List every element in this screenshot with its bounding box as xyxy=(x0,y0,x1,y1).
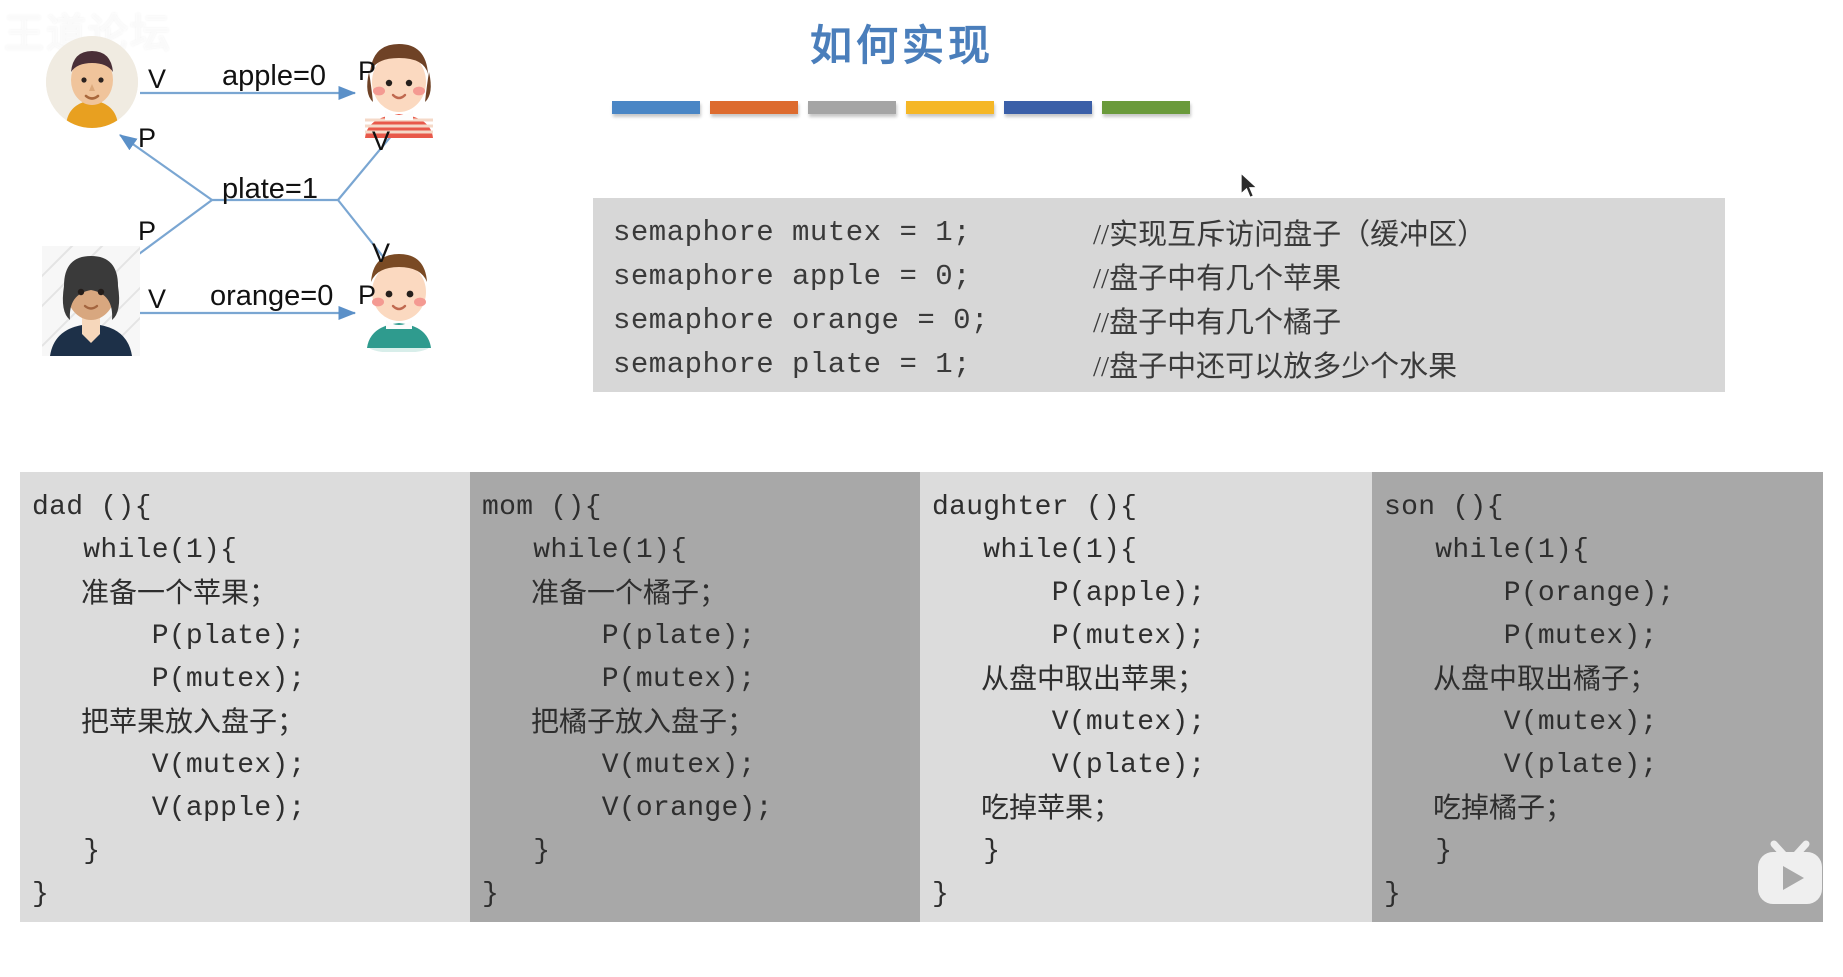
color-bar-3 xyxy=(808,101,896,114)
code-line: while(1){ xyxy=(32,529,470,572)
semaphore-code: semaphore mutex = 1; xyxy=(613,216,1093,249)
code-line: while(1){ xyxy=(482,529,920,572)
semaphore-code: semaphore apple = 0; xyxy=(613,260,1093,293)
code-line: P(plate); xyxy=(32,615,470,658)
semaphore-row: semaphore apple = 0;//盘子中有几个苹果 xyxy=(613,254,1713,298)
code-line: 从盘中取出苹果； xyxy=(932,658,1372,701)
code-line: P(orange); xyxy=(1384,572,1823,615)
semaphore-code: semaphore orange = 0; xyxy=(613,304,1093,337)
code-line: P(mutex); xyxy=(1384,615,1823,658)
semaphore-declaration-block: semaphore mutex = 1;//实现互斥访问盘子（缓冲区）semap… xyxy=(593,198,1725,392)
semaphore-comment: //实现互斥访问盘子（缓冲区） xyxy=(1093,211,1486,253)
color-bar-2 xyxy=(710,101,798,114)
code-line: V(plate); xyxy=(1384,744,1823,787)
code-column-mom: mom (){ while(1){ 准备一个橘子； P(plate); P(mu… xyxy=(470,472,920,922)
code-line: P(apple); xyxy=(932,572,1372,615)
code-line: 准备一个橘子； xyxy=(482,572,920,615)
code-line: 从盘中取出橘子； xyxy=(1384,658,1823,701)
color-bar-6 xyxy=(1102,101,1190,114)
color-bar-4 xyxy=(906,101,994,114)
daughter-p-label: P xyxy=(358,58,376,85)
code-line: V(plate); xyxy=(932,744,1372,787)
code-line: dad (){ xyxy=(32,486,470,529)
son-p-label: P xyxy=(358,282,376,309)
semaphore-comment: //盘子中还可以放多少个水果 xyxy=(1093,343,1457,385)
code-line: V(apple); xyxy=(32,787,470,830)
code-column-dad: dad (){ while(1){ 准备一个苹果； P(plate); P(mu… xyxy=(20,472,470,922)
code-line: V(mutex); xyxy=(1384,701,1823,744)
mouse-cursor xyxy=(1240,172,1260,202)
code-line: } xyxy=(482,830,920,873)
code-line: P(mutex); xyxy=(932,615,1372,658)
color-bar-5 xyxy=(1004,101,1092,114)
code-column-daughter: daughter (){ while(1){ P(apple); P(mutex… xyxy=(920,472,1372,922)
daughter-v-label: V xyxy=(372,128,390,155)
code-line: } xyxy=(482,873,920,916)
apple-edge-label: apple=0 xyxy=(222,62,326,91)
plate-edge-label: plate=1 xyxy=(222,175,318,204)
code-line: V(mutex); xyxy=(932,701,1372,744)
process-code-columns: dad (){ while(1){ 准备一个苹果； P(plate); P(mu… xyxy=(20,472,1823,922)
code-line: 吃掉橘子； xyxy=(1384,787,1823,830)
code-line: 吃掉苹果； xyxy=(932,787,1372,830)
son-v-label: V xyxy=(372,240,390,267)
color-bar-1 xyxy=(612,101,700,114)
semaphore-comment: //盘子中有几个橘子 xyxy=(1093,299,1341,341)
mom-v-label: V xyxy=(148,286,166,313)
dad-p-label: P xyxy=(138,125,156,152)
orange-edge-label: orange=0 xyxy=(210,282,333,311)
code-line: V(mutex); xyxy=(482,744,920,787)
code-line: mom (){ xyxy=(482,486,920,529)
bilibili-tv-logo-icon xyxy=(1750,838,1830,914)
code-line: } xyxy=(932,873,1372,916)
code-line: daughter (){ xyxy=(932,486,1372,529)
slide-canvas: 王道论坛 bilibili xyxy=(0,0,1843,977)
semaphore-code: semaphore plate = 1; xyxy=(613,348,1093,381)
semaphore-comment: //盘子中有几个苹果 xyxy=(1093,255,1341,297)
producer-consumer-diagram: V apple=0 P P V plate=1 P V V orange=0 P xyxy=(0,18,520,398)
color-bar-strip xyxy=(612,101,1190,114)
code-line: son (){ xyxy=(1384,486,1823,529)
code-line: 准备一个苹果； xyxy=(32,572,470,615)
code-line: P(mutex); xyxy=(482,658,920,701)
code-line: V(mutex); xyxy=(32,744,470,787)
daughter-avatar xyxy=(355,38,443,138)
code-line: V(orange); xyxy=(482,787,920,830)
code-line: } xyxy=(932,830,1372,873)
code-line: } xyxy=(32,873,470,916)
dad-v-label: V xyxy=(148,66,166,93)
semaphore-row: semaphore mutex = 1;//实现互斥访问盘子（缓冲区） xyxy=(613,210,1713,254)
dad-avatar xyxy=(46,36,138,128)
code-line: while(1){ xyxy=(932,529,1372,572)
semaphore-row: semaphore plate = 1;//盘子中还可以放多少个水果 xyxy=(613,342,1713,386)
mom-p-label: P xyxy=(138,218,156,245)
code-line: 把苹果放入盘子； xyxy=(32,701,470,744)
mom-avatar xyxy=(42,246,140,356)
semaphore-row: semaphore orange = 0;//盘子中有几个橘子 xyxy=(613,298,1713,342)
code-line: 把橘子放入盘子； xyxy=(482,701,920,744)
code-line: } xyxy=(32,830,470,873)
code-line: while(1){ xyxy=(1384,529,1823,572)
code-line: P(mutex); xyxy=(32,658,470,701)
code-line: P(plate); xyxy=(482,615,920,658)
page-title: 如何实现 xyxy=(810,12,994,73)
